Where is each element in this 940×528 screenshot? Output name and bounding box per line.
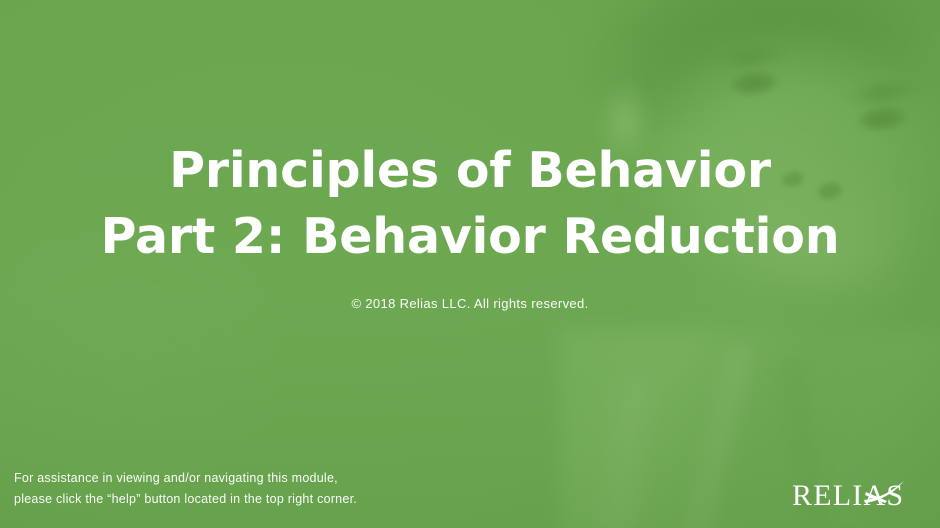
course-title-slide: Principles of Behavior Part 2: Behavior … [0,0,940,528]
page-title: Principles of Behavior Part 2: Behavior … [0,138,940,270]
copyright-notice: © 2018 Relias LLC. All rights reserved. [0,296,940,311]
assistance-note: For assistance in viewing and/or navigat… [14,468,357,510]
assistance-note-line-two: please click the “help” button located i… [14,489,357,510]
assistance-note-line-one: For assistance in viewing and/or navigat… [14,468,357,489]
title-line-one: Principles of Behavior [0,138,940,204]
relias-wordmark: RELIAS [792,479,904,512]
title-line-two: Part 2: Behavior Reduction [0,204,940,270]
relias-logo: RELIAS [792,478,924,512]
relias-logo-svg: RELIAS [792,478,924,512]
slide-content: Principles of Behavior Part 2: Behavior … [0,0,940,528]
